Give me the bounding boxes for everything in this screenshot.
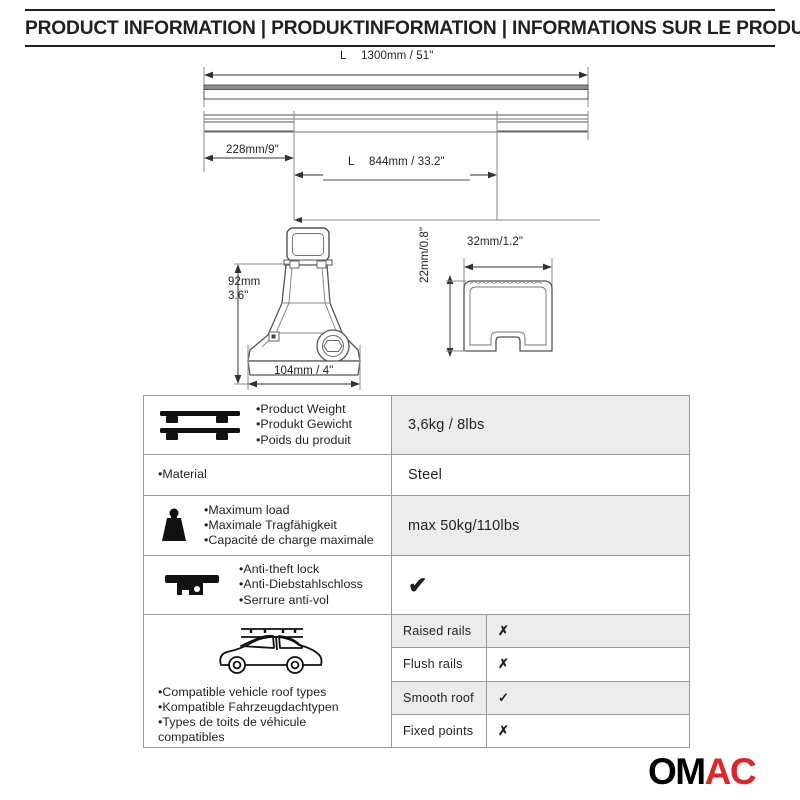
- profile-width-value: 32mm/1.2": [467, 236, 523, 248]
- roof-label-en: •Compatible vehicle roof types: [158, 685, 339, 700]
- logo-text-part1: OM: [648, 751, 705, 792]
- material-label: •Material: [158, 467, 207, 482]
- roof-option-fixed-points: Fixed points ✗: [392, 715, 689, 747]
- roof-label-fr-cont: compatibles: [158, 730, 339, 745]
- table-row-anti-theft: •Anti-theft lock •Anti-Diebstahlschloss …: [144, 556, 689, 615]
- crossbars-icon: [144, 405, 256, 445]
- weight-labels: •Product Weight •Produkt Gewicht •Poids …: [256, 402, 352, 448]
- omac-logo: OMAC: [648, 752, 755, 792]
- car-with-rack-icon: [207, 621, 329, 679]
- foot-offset-value: 228mm/9": [226, 144, 279, 156]
- bar-length-prefix: L: [340, 50, 347, 62]
- foot-width-value: 104mm / 4": [274, 365, 333, 377]
- table-row-max-load: •Maximum load •Maximale Tragfähigkeit •C…: [144, 496, 689, 556]
- roof-option-flush-rails: Flush rails ✗: [392, 648, 689, 681]
- technical-drawing: [0, 45, 800, 435]
- roof-option-name: Smooth roof: [392, 682, 487, 714]
- roof-option-value: ✓: [487, 682, 689, 714]
- table-row-roof-types: •Compatible vehicle roof types •Kompatib…: [144, 615, 689, 747]
- material-labels: •Material: [158, 467, 207, 482]
- table-row-material: •Material Steel: [144, 455, 689, 496]
- weight-label-fr: •Poids du produit: [256, 433, 352, 448]
- roof-option-smooth-roof: Smooth roof ✓: [392, 682, 689, 715]
- profile-height-value: 22mm/0.8": [419, 227, 431, 283]
- lock-icon: [144, 568, 239, 602]
- material-label-cell: •Material: [144, 455, 392, 495]
- roof-types-label-cell: •Compatible vehicle roof types •Kompatib…: [144, 615, 392, 747]
- anti-theft-labels: •Anti-theft lock •Anti-Diebstahlschloss …: [239, 562, 363, 608]
- table-row-weight: •Product Weight •Produkt Gewicht •Poids …: [144, 396, 689, 455]
- max-load-labels: •Maximum load •Maximale Tragfähigkeit •C…: [204, 503, 374, 549]
- roof-option-value: ✗: [487, 615, 689, 647]
- max-load-label-cell: •Maximum load •Maximale Tragfähigkeit •C…: [144, 496, 392, 555]
- roof-option-name: Flush rails: [392, 648, 487, 680]
- weight-label-de: •Produkt Gewicht: [256, 417, 352, 432]
- anti-theft-label-en: •Anti-theft lock: [239, 562, 363, 577]
- anti-theft-value: ✔: [392, 556, 689, 614]
- page-title: PRODUCT INFORMATION | PRODUKTINFORMATION…: [25, 14, 766, 42]
- roof-option-raised-rails: Raised rails ✗: [392, 615, 689, 648]
- anti-theft-label-cell: •Anti-theft lock •Anti-Diebstahlschloss …: [144, 556, 392, 614]
- logo-text-part2: AC: [705, 751, 755, 792]
- roof-label-de: •Kompatible Fahrzeugdachtypen: [158, 700, 339, 715]
- weight-icon: [144, 506, 204, 546]
- foot-height-mm: 92mm: [228, 276, 260, 288]
- max-load-value: max 50kg/110lbs: [392, 496, 689, 555]
- roof-option-name: Raised rails: [392, 615, 487, 647]
- span-value: 844mm / 33.2": [369, 156, 445, 168]
- anti-theft-label-de: •Anti-Diebstahlschloss: [239, 577, 363, 592]
- roof-option-value: ✗: [487, 648, 689, 680]
- spec-table: •Product Weight •Produkt Gewicht •Poids …: [143, 395, 690, 748]
- bar-length-value: 1300mm / 51": [361, 50, 433, 62]
- roof-types-options: Raised rails ✗ Flush rails ✗ Smooth roof…: [392, 615, 689, 747]
- weight-label-cell: •Product Weight •Produkt Gewicht •Poids …: [144, 396, 392, 454]
- roof-label-fr: •Types de toits de véhicule: [158, 715, 339, 730]
- max-load-label-de: •Maximale Tragfähigkeit: [204, 518, 374, 533]
- header-rule-top: [25, 9, 775, 11]
- span-prefix: L: [348, 156, 355, 168]
- max-load-label-fr: •Capacité de charge maximale: [204, 533, 374, 548]
- roof-option-name: Fixed points: [392, 715, 487, 747]
- anti-theft-label-fr: •Serrure anti-vol: [239, 593, 363, 608]
- foot-height-inch: 3.6": [228, 290, 248, 302]
- roof-types-labels: •Compatible vehicle roof types •Kompatib…: [144, 685, 339, 746]
- weight-label-en: •Product Weight: [256, 402, 352, 417]
- product-information-sheet: PRODUCT INFORMATION | PRODUKTINFORMATION…: [0, 0, 800, 800]
- material-value: Steel: [392, 455, 689, 495]
- weight-value: 3,6kg / 8lbs: [392, 396, 689, 454]
- max-load-label-en: •Maximum load: [204, 503, 374, 518]
- roof-option-value: ✗: [487, 715, 689, 747]
